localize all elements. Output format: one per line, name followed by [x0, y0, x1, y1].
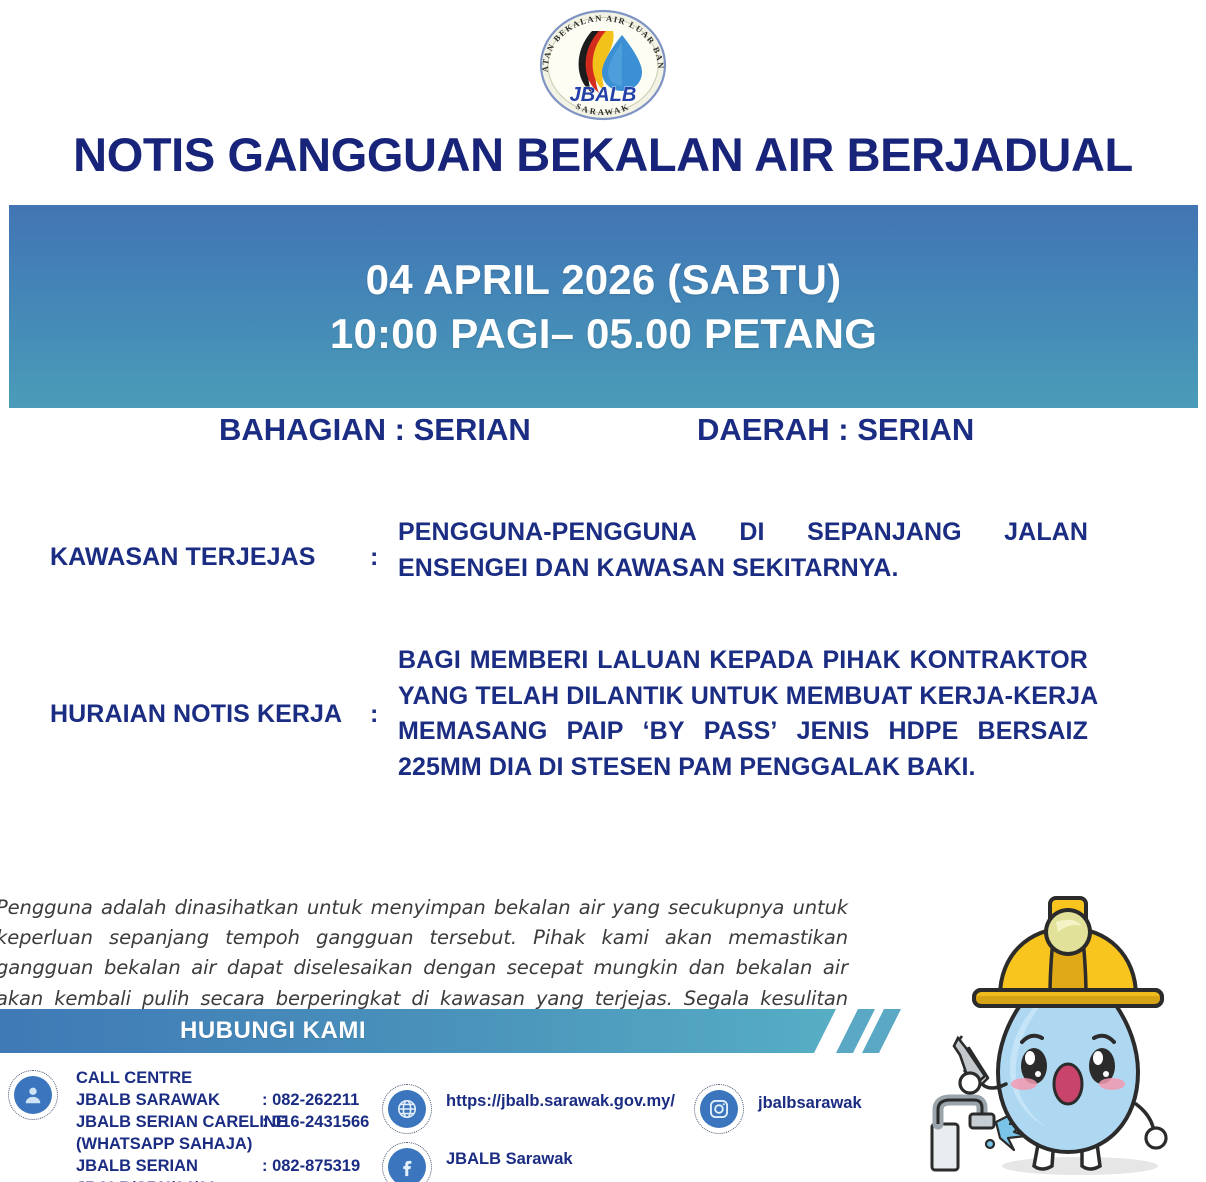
huraian-word: BERSAIZ [978, 714, 1088, 750]
kawasan-line-2: ENSENGEI DAN KAWASAN SEKITARNYA. [398, 551, 1088, 587]
region-row: BAHAGIAN : SERIAN DAERAH : SERIAN [0, 412, 1206, 454]
contact-number: : 082-262211 [262, 1090, 359, 1112]
facebook-icon[interactable] [388, 1148, 426, 1182]
instagram-icon-group[interactable] [694, 1084, 744, 1134]
contact-number: : 016-2431566 [262, 1112, 369, 1134]
huraian-word: JENIS [797, 714, 870, 750]
contact-number: : 082-875319 [262, 1156, 360, 1178]
huraian-word: PAIP [567, 714, 624, 750]
page-title: NOTIS GANGGUAN BEKALAN AIR BERJADUAL [0, 128, 1206, 182]
kawasan-word: DI [739, 515, 764, 551]
contact-name: JBALB SARAWAK [76, 1090, 220, 1112]
kawasan-label: KAWASAN TERJEJAS [50, 543, 316, 572]
huraian-word: PASS’ [704, 714, 778, 750]
huraian-label: HURAIAN NOTIS KERJA [50, 700, 342, 729]
website-link[interactable]: https://jbalb.sarawak.gov.my/ [446, 1092, 675, 1111]
huraian-line-1: BAGI MEMBERI LALUAN KEPADA PIHAK KONTRAK… [398, 643, 1088, 679]
huraian-value: BAGI MEMBERI LALUAN KEPADA PIHAK KONTRAK… [398, 643, 1088, 785]
contact-banner-body: HUBUNGI KAMI [0, 1009, 836, 1053]
huraian-word: LALUAN [597, 643, 700, 679]
contact-name: JBALB SERIAN [76, 1156, 198, 1178]
kawasan-colon: : [370, 543, 378, 572]
website-icon-group[interactable] [382, 1084, 432, 1134]
kawasan-word: SEPANJANG [807, 515, 962, 551]
notice-date: 04 APRIL 2026 (SABTU) [366, 253, 842, 307]
huraian-word: KEPADA [709, 643, 813, 679]
huraian-line-2: YANG TELAH DILANTIK UNTUK MEMBUAT KERJA-… [398, 679, 1088, 715]
instagram-icon[interactable] [700, 1090, 738, 1128]
water-supply-disruption-notice: JABATAN BEKALAN AIR LUAR BANDAR SARAWAK … [0, 0, 1206, 1182]
kawasan-word: PENGGUNA-PENGGUNA [398, 515, 697, 551]
huraian-line-3: MEMASANG PAIP ‘BY PASS’ JENIS HDPE BERSA… [398, 714, 1088, 750]
facebook-icon-group[interactable] [382, 1142, 432, 1182]
water-droplet-mascot [930, 866, 1206, 1182]
contact-name: JBALB SERIAN CARELINE [76, 1112, 287, 1134]
row-kawasan-terjejas: KAWASAN TERJEJAS : PENGGUNA-PENGGUNA DI … [0, 505, 1206, 635]
call-centre-heading: CALL CENTRE [76, 1068, 192, 1090]
huraian-colon: : [370, 700, 378, 729]
notice-time: 10:00 PAGI– 05.00 PETANG [330, 307, 877, 361]
bahagian-label: BAHAGIAN : [219, 412, 405, 447]
huraian-line-4: 225MM DIA DI STESEN PAM PENGGALAK BAKI. [398, 750, 1088, 786]
huraian-word: BAGI [398, 643, 461, 679]
huraian-word: KONTRAKTOR [910, 643, 1088, 679]
daerah-field: DAERAH : SERIAN [697, 412, 974, 448]
instagram-handle[interactable]: jbalbsarawak [758, 1094, 862, 1113]
globe-icon[interactable] [388, 1090, 426, 1128]
bahagian-value: SERIAN [414, 412, 531, 447]
facebook-handle[interactable]: JBALB Sarawak [446, 1150, 573, 1169]
kawasan-line-1: PENGGUNA-PENGGUNA DI SEPANJANG JALAN [398, 515, 1088, 551]
date-time-band: 04 APRIL 2026 (SABTU) 10:00 PAGI– 05.00 … [9, 205, 1198, 408]
daerah-label: DAERAH : [697, 412, 849, 447]
logo-container: JABATAN BEKALAN AIR LUAR BANDAR SARAWAK … [0, 6, 1206, 124]
contact-banner: HUBUNGI KAMI [0, 1009, 840, 1053]
huraian-word: HDPE [889, 714, 959, 750]
contact-note: (WHATSAPP SAHAJA) [76, 1134, 252, 1156]
daerah-value: SERIAN [857, 412, 974, 447]
contact-banner-title: HUBUNGI KAMI [180, 1017, 366, 1045]
huraian-word: ‘BY [643, 714, 685, 750]
notice-reference-code: JBALB/SRN/04/01 [76, 1178, 216, 1182]
svg-text:JBALB: JBALB [570, 84, 637, 106]
jbalb-logo: JABATAN BEKALAN AIR LUAR BANDAR SARAWAK … [526, 9, 680, 121]
person-icon [14, 1076, 52, 1114]
hard-hat-icon [974, 898, 1162, 1006]
kawasan-word: JALAN [1004, 515, 1088, 551]
call-centre-icon-group [8, 1070, 58, 1120]
faucet-icon [932, 1100, 994, 1170]
huraian-word: MEMASANG [398, 714, 547, 750]
bahagian-field: BAHAGIAN : SERIAN [219, 412, 531, 448]
row-huraian-notis-kerja: HURAIAN NOTIS KERJA : BAGI MEMBERI LALUA… [0, 635, 1206, 795]
huraian-word: MEMBERI [470, 643, 589, 679]
huraian-word: PIHAK [823, 643, 901, 679]
notice-details: KAWASAN TERJEJAS : PENGGUNA-PENGGUNA DI … [0, 505, 1206, 795]
kawasan-value: PENGGUNA-PENGGUNA DI SEPANJANG JALAN ENS… [398, 515, 1088, 586]
